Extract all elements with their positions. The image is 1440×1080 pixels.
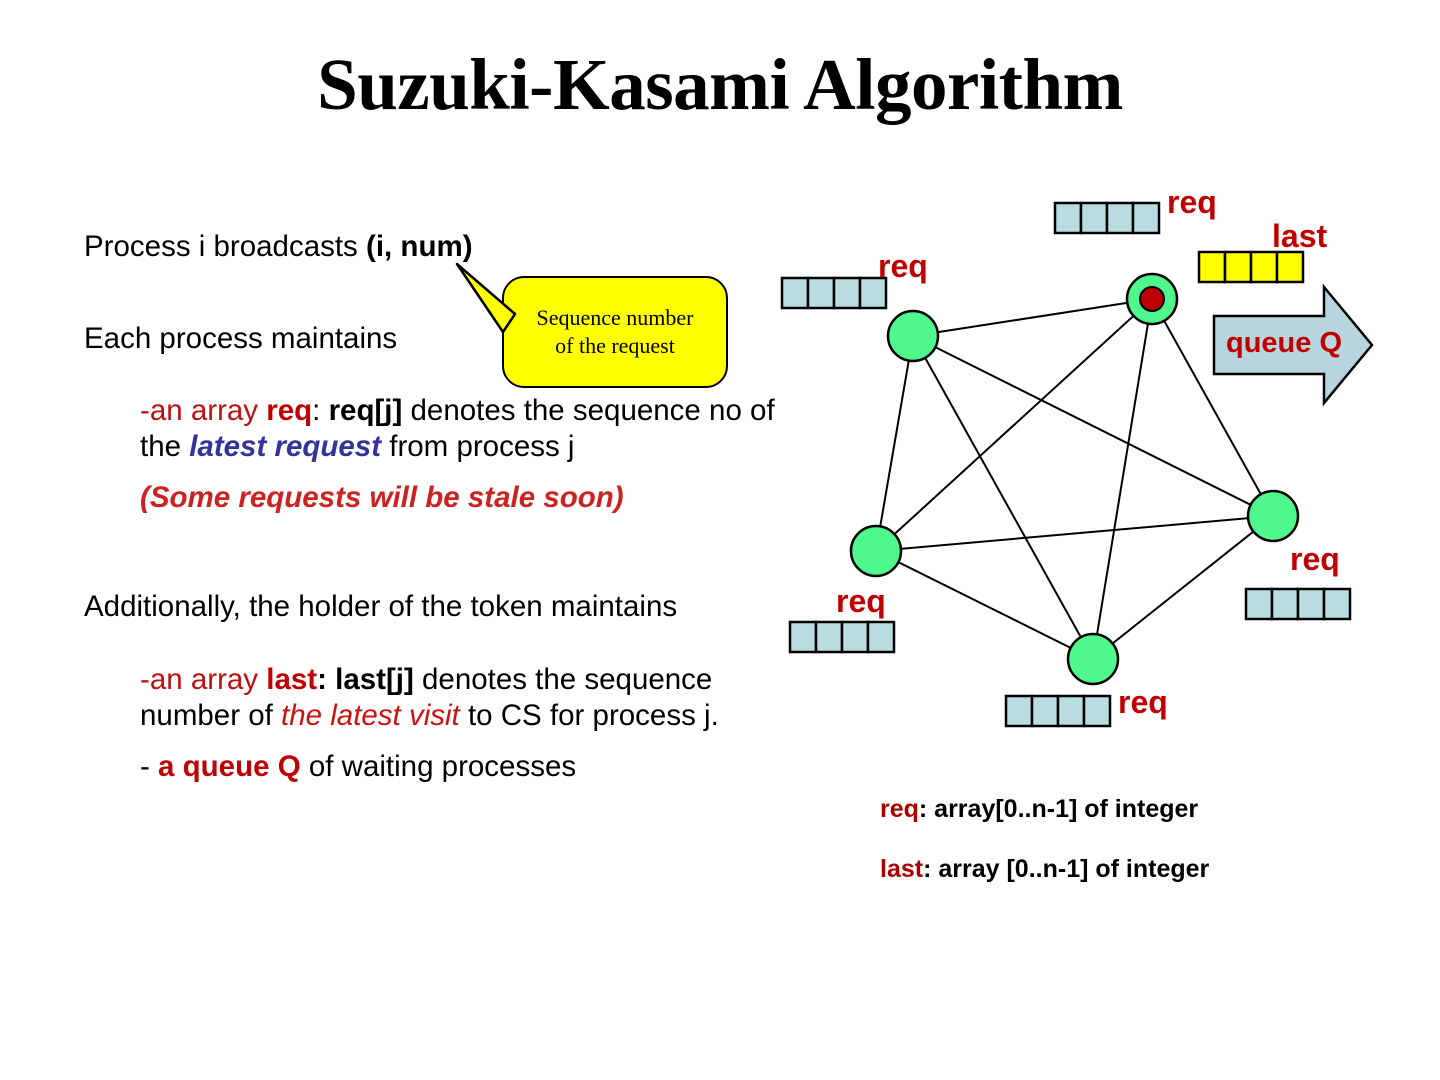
text-process-broadcasts-pre: Process i broadcasts	[84, 230, 366, 263]
array-cell	[868, 622, 894, 652]
node-token	[1127, 274, 1177, 324]
array-cell	[1277, 252, 1303, 282]
array-cell	[1225, 252, 1251, 282]
array-cell	[1199, 252, 1225, 282]
graph-edge	[876, 299, 1152, 551]
callout-sequence-number: Sequence number of the request	[502, 276, 728, 388]
array-cell	[1032, 696, 1058, 726]
req-array-top-left	[782, 278, 886, 308]
array-cell	[782, 278, 808, 308]
graph-edge	[876, 516, 1273, 551]
callout-line-1: Sequence number	[537, 304, 694, 332]
graph-edge	[913, 336, 1093, 659]
text-from-process-j: from process j	[381, 430, 574, 463]
graph-edges	[876, 299, 1273, 659]
note-stale-requests: (Some requests will be stale soon)	[140, 483, 780, 513]
text-dash-an-array-req: -an array	[140, 394, 266, 427]
paragraph-token-holder-maintains: Additionally, the holder of the token ma…	[84, 592, 784, 622]
bullet-last-array: -an array last: last[j] denotes the sequ…	[140, 662, 780, 734]
text-colon-2: :	[317, 663, 335, 696]
graph-edge	[1093, 516, 1273, 659]
array-cell	[790, 622, 816, 652]
graph-edge	[913, 299, 1152, 336]
callout-line-2: of the request	[537, 332, 694, 360]
text-i-num: (i, num)	[366, 230, 473, 263]
array-cell	[1324, 589, 1350, 619]
spacer-4	[84, 512, 784, 574]
page-title: Suzuki-Kasami Algorithm	[0, 48, 1440, 121]
array-cell	[1081, 203, 1107, 233]
graph-edge	[876, 336, 913, 551]
paragraph-process-broadcasts: Process i broadcasts (i, num)	[84, 232, 784, 262]
graph-edge	[876, 551, 1093, 659]
req-array-top	[1055, 203, 1159, 233]
req-array-left	[790, 622, 894, 652]
node-top-left	[888, 311, 938, 361]
text-dash-an-array-last: -an array	[140, 663, 266, 696]
array-boxes	[782, 203, 1350, 726]
text-to-cs-for-process-j: to CS for process j.	[460, 699, 719, 732]
legend-last: last: array [0..n-1] of integer	[880, 855, 1209, 884]
array-cell	[1133, 203, 1159, 233]
node-right	[1248, 491, 1298, 541]
text-the-latest-visit: the latest visit	[281, 699, 460, 732]
array-cell	[1084, 696, 1110, 726]
graph-edge	[1093, 299, 1152, 659]
req-array-bottom-label: req	[1118, 686, 1168, 718]
last-array	[1199, 252, 1303, 282]
text-additionally-holder: Additionally, the holder of the token ma…	[84, 590, 677, 623]
legend-req-key: req	[880, 795, 919, 823]
req-array-bottom	[1006, 696, 1110, 726]
array-cell	[1298, 589, 1324, 619]
token-marker-icon	[1140, 287, 1164, 311]
last-array-label: last	[1272, 220, 1327, 252]
array-cell	[1006, 696, 1032, 726]
text-each-process-maintains: Each process maintains	[84, 322, 397, 355]
text-of-waiting-processes: of waiting processes	[301, 750, 576, 783]
node-bottom	[1068, 634, 1118, 684]
graph-edge	[913, 336, 1273, 516]
legend-req: req: array[0..n-1] of integer	[880, 795, 1198, 824]
array-cell	[1107, 203, 1133, 233]
bullet-req-array: -an array req: req[j] denotes the sequen…	[140, 393, 780, 465]
queue-q-label: queue Q	[1226, 329, 1342, 358]
text-dash-3: -	[140, 750, 158, 783]
text-latest-request: latest request	[189, 430, 381, 463]
req-array-top-left-label: req	[878, 250, 928, 282]
legend-last-text: : array [0..n-1] of integer	[923, 855, 1209, 883]
array-cell	[816, 622, 842, 652]
array-cell	[1055, 203, 1081, 233]
text-lastj: last[j]	[335, 663, 414, 696]
array-cell	[1272, 589, 1298, 619]
text-reqj: req[j]	[329, 394, 403, 427]
array-cell	[1246, 589, 1272, 619]
array-cell	[842, 622, 868, 652]
array-cell	[808, 278, 834, 308]
text-colon-1: :	[312, 394, 328, 427]
array-cell	[1058, 696, 1084, 726]
text-a-queue-q: a queue Q	[158, 750, 301, 783]
legend-last-key: last	[880, 855, 923, 883]
text-stale-note: (Some requests will be stale soon)	[140, 481, 624, 514]
spacer-5	[84, 622, 784, 662]
text-last-keyword: last	[266, 663, 317, 696]
node-left	[851, 526, 901, 576]
bullet-queue-q: - a queue Q of waiting processes	[140, 752, 780, 782]
array-cell	[834, 278, 860, 308]
array-cell	[1251, 252, 1277, 282]
req-array-top-label: req	[1167, 186, 1217, 218]
text-req-keyword: req	[266, 394, 312, 427]
req-array-right-label: req	[1290, 543, 1340, 575]
legend-req-text: : array[0..n-1] of integer	[919, 795, 1198, 823]
req-array-right	[1246, 589, 1350, 619]
req-array-left-label: req	[836, 585, 886, 617]
